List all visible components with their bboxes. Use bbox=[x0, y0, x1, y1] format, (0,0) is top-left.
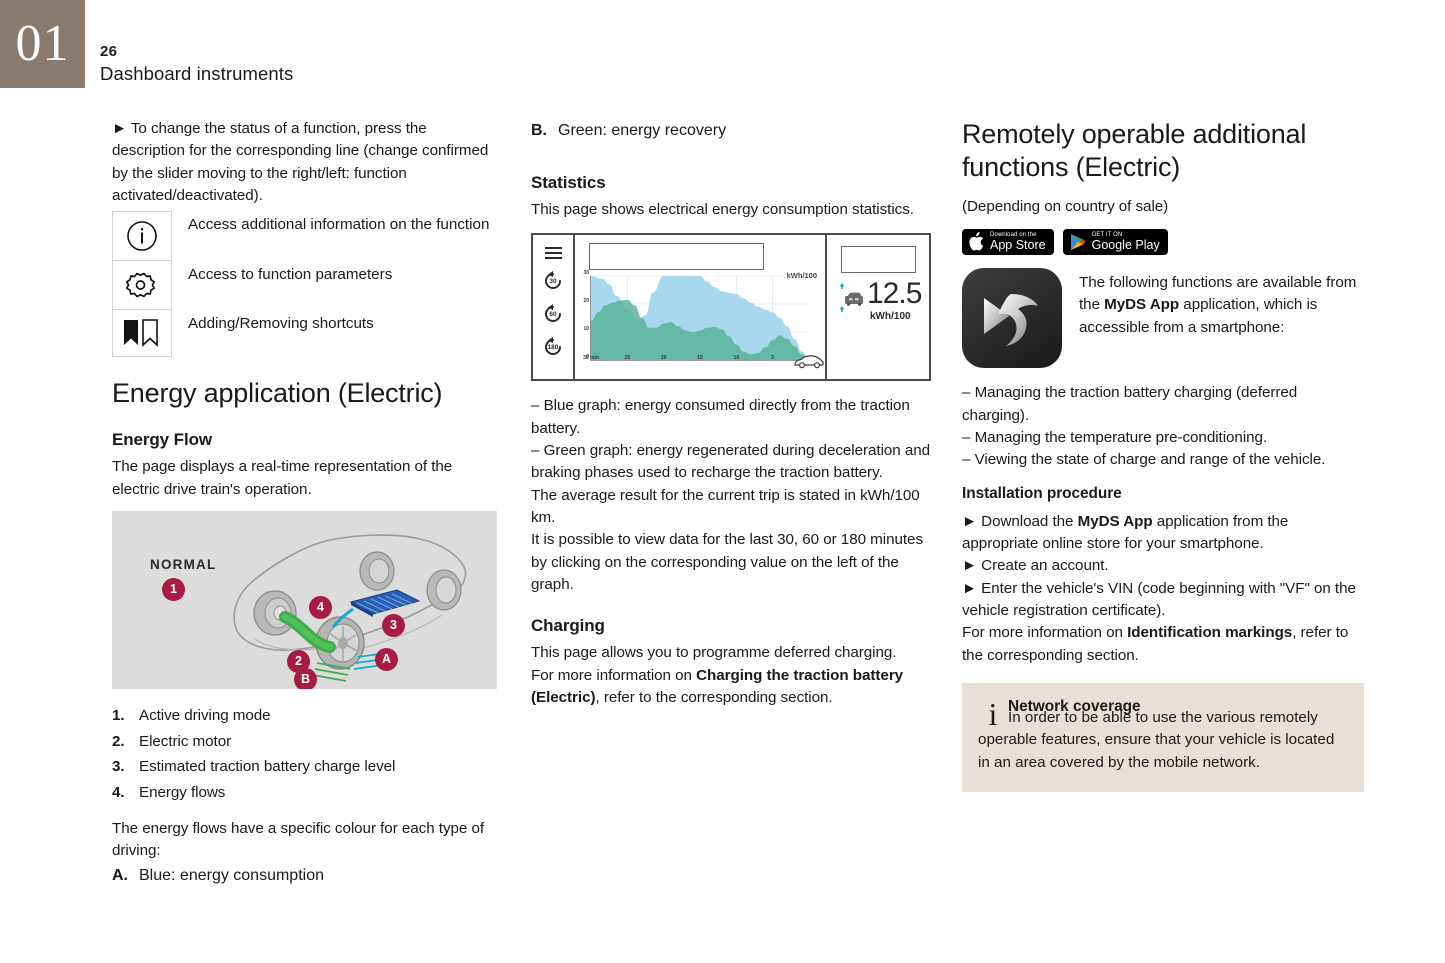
id-note-bold: Identification markings bbox=[1127, 624, 1292, 641]
id-note-pre: For more information on bbox=[962, 624, 1127, 641]
energy-flow-legend-list: 1.Active driving mode 2.Electric motor 3… bbox=[112, 703, 497, 805]
screen-title-placeholder bbox=[589, 243, 764, 270]
icon-legend-row: Access to function parameters bbox=[112, 261, 497, 310]
app-store-badge[interactable]: Download on the App Store bbox=[962, 229, 1054, 255]
energy-flow-body: The page displays a real-time representa… bbox=[112, 456, 497, 501]
icon-legend-label: Access to function parameters bbox=[172, 261, 392, 286]
icon-legend-label: Access additional information on the fun… bbox=[172, 211, 489, 236]
install-step-1: ► Download the MyDS App application from… bbox=[962, 511, 1364, 556]
callout-body-text: In order to be able to use the various r… bbox=[978, 709, 1334, 771]
list-item-number: 1. bbox=[112, 703, 139, 729]
callout-badge-b: B bbox=[294, 668, 317, 689]
myds-app-icon bbox=[962, 268, 1062, 368]
charging-ref-pre: For more information on bbox=[531, 667, 696, 684]
list-item: 3.Estimated traction battery charge leve… bbox=[112, 754, 497, 780]
charging-body: This page allows you to programme deferr… bbox=[531, 642, 931, 664]
gear-icon bbox=[112, 261, 172, 310]
apple-logo-icon bbox=[968, 232, 985, 252]
callout-badge-1: 1 bbox=[162, 578, 185, 601]
myds-intro-bold: MyDS App bbox=[1104, 296, 1179, 313]
list-item-label: Energy flows bbox=[139, 780, 225, 806]
list-item-label: Blue: energy consumption bbox=[139, 863, 324, 890]
icon-legend-row: Adding/Removing shortcuts bbox=[112, 310, 497, 357]
google-play-badge-text: GET IT ON Google Play bbox=[1092, 232, 1160, 252]
section-title-remote-functions: Remotely operable additional functions (… bbox=[962, 118, 1364, 184]
page-header: 26 Dashboard instruments bbox=[100, 43, 293, 86]
info-circle-icon bbox=[112, 211, 172, 261]
subsection-title-statistics: Statistics bbox=[531, 173, 931, 193]
icon-legend-row: Access additional information on the fun… bbox=[112, 211, 497, 261]
column-two: B. Green: energy recovery Statistics Thi… bbox=[531, 118, 931, 709]
install-step-1-pre: ► Download the bbox=[962, 513, 1078, 530]
myds-app-block: The following functions are available fr… bbox=[962, 268, 1364, 368]
list-item-a: A. Blue: energy consumption bbox=[112, 863, 497, 890]
average-consumption-value: 12.5 bbox=[867, 280, 921, 307]
install-step-2: ► Create an account. bbox=[962, 555, 1364, 577]
time-range-note: It is possible to view data for the last… bbox=[531, 529, 931, 596]
list-item-label: Active driving mode bbox=[139, 703, 271, 729]
list-item-number: 3. bbox=[112, 754, 139, 780]
chart-x-tick: 5 bbox=[763, 355, 783, 361]
list-item-number: 2. bbox=[112, 729, 139, 755]
install-step-3: ► Enter the vehicle's VIN (code beginnin… bbox=[962, 578, 1364, 623]
rewind-180-icon[interactable]: 180 bbox=[542, 336, 564, 358]
intro-paragraph: ► To change the status of a function, pr… bbox=[112, 118, 497, 207]
google-play-badge[interactable]: GET IT ON Google Play bbox=[1063, 229, 1168, 255]
charging-reference: For more information on Charging the tra… bbox=[531, 665, 931, 710]
app-store-badge-bottom: App Store bbox=[990, 239, 1046, 252]
green-graph-bullet: – Green graph: energy regenerated during… bbox=[531, 440, 931, 485]
page-title: Dashboard instruments bbox=[100, 62, 293, 86]
chart-x-tick: 15 bbox=[690, 355, 710, 361]
remote-function-item: – Managing the temperature pre-condition… bbox=[962, 427, 1364, 449]
statistics-screen-sidebar: 30 60 180 bbox=[533, 235, 575, 379]
chart-x-tick: 30 min bbox=[581, 355, 601, 361]
manual-page: 01 26 Dashboard instruments ► To change … bbox=[0, 0, 1445, 963]
statistics-screen-mock: 30 60 180 bbox=[531, 233, 931, 381]
rewind-60-icon[interactable]: 60 bbox=[542, 303, 564, 325]
hamburger-menu-icon[interactable] bbox=[545, 247, 562, 259]
list-item-b: B. Green: energy recovery bbox=[531, 118, 931, 145]
statistics-body: This page shows electrical energy consum… bbox=[531, 199, 931, 221]
remote-function-item: – Managing the traction battery charging… bbox=[962, 382, 1364, 427]
average-consumption-unit: kWh/100 bbox=[870, 311, 911, 322]
list-item-label: Electric motor bbox=[139, 729, 231, 755]
page-number: 26 bbox=[100, 43, 293, 62]
chart-x-tick: 20 bbox=[654, 355, 674, 361]
energy-flow-illustration: NORMAL 1 2 3 4 A B bbox=[112, 511, 497, 689]
rewind-60-label: 60 bbox=[542, 311, 564, 318]
blue-graph-bullet: – Blue graph: energy consumed directly f… bbox=[531, 395, 931, 440]
chapter-number: 01 bbox=[16, 18, 70, 70]
app-store-badge-text: Download on the App Store bbox=[990, 232, 1046, 252]
subsection-title-installation: Installation procedure bbox=[962, 485, 1364, 503]
driving-mode-label: NORMAL bbox=[150, 557, 216, 572]
google-play-badge-bottom: Google Play bbox=[1092, 239, 1160, 252]
chart-x-tick-labels: 30 min252015105 bbox=[587, 355, 811, 367]
callout-badge-a: A bbox=[375, 648, 398, 671]
subsection-title-charging: Charging bbox=[531, 616, 931, 636]
google-play-icon bbox=[1069, 232, 1087, 252]
chart-x-tick: 10 bbox=[726, 355, 746, 361]
network-coverage-callout: i Network coverage In order to be able t… bbox=[962, 683, 1364, 792]
identification-markings-note: For more information on Identification m… bbox=[962, 622, 1364, 667]
column-one: ► To change the status of a function, pr… bbox=[112, 118, 497, 890]
chart-y-tick: 20 bbox=[583, 298, 589, 304]
section-title-energy-application: Energy application (Electric) bbox=[112, 377, 497, 410]
callout-badge-4: 4 bbox=[309, 596, 332, 619]
list-item: 1.Active driving mode bbox=[112, 703, 497, 729]
subsection-title-energy-flow: Energy Flow bbox=[112, 430, 497, 450]
icon-legend-label: Adding/Removing shortcuts bbox=[172, 310, 374, 335]
column-three: Remotely operable additional functions (… bbox=[962, 118, 1364, 792]
list-item-label: Estimated traction battery charge level bbox=[139, 754, 395, 780]
chapter-tab: 01 bbox=[0, 0, 85, 88]
colour-intro-paragraph: The energy flows have a specific colour … bbox=[112, 818, 497, 863]
country-of-sale-note: (Depending on country of sale) bbox=[962, 196, 1364, 218]
rewind-180-label: 180 bbox=[542, 344, 564, 351]
list-item: 4.Energy flows bbox=[112, 780, 497, 806]
icon-legend-table: Access additional information on the fun… bbox=[112, 211, 497, 357]
list-item-number: 4. bbox=[112, 780, 139, 806]
car-side-icon bbox=[793, 353, 825, 369]
chart-x-tick: 25 bbox=[617, 355, 637, 361]
app-store-badges: Download on the App Store GET IT ON Goog… bbox=[962, 229, 1364, 255]
chart-y-tick: 30 bbox=[583, 270, 589, 276]
list-item: 2.Electric motor bbox=[112, 729, 497, 755]
rewind-30-label: 30 bbox=[542, 278, 564, 285]
charging-ref-post: , refer to the corresponding section. bbox=[596, 689, 833, 706]
statistics-average-panel: 12.5 kWh/100 bbox=[825, 235, 929, 379]
list-item-letter: B. bbox=[531, 118, 558, 145]
rewind-30-icon[interactable]: 30 bbox=[542, 270, 564, 292]
average-panel-placeholder bbox=[841, 246, 916, 273]
average-result-note: The average result for the current trip … bbox=[531, 485, 931, 530]
callout-body: In order to be able to use the various r… bbox=[978, 707, 1348, 774]
install-step-1-bold: MyDS App bbox=[1078, 513, 1153, 530]
list-item-label: Green: energy recovery bbox=[558, 118, 726, 145]
callout-badge-3: 3 bbox=[382, 614, 405, 637]
remote-function-item: – Viewing the state of charge and range … bbox=[962, 449, 1364, 471]
list-item-letter: A. bbox=[112, 863, 139, 890]
statistics-chart-area: kWh/100 0102030 30 min252015105 bbox=[575, 235, 825, 379]
myds-app-intro: The following functions are available fr… bbox=[1079, 268, 1364, 368]
bookmark-icon bbox=[112, 310, 172, 357]
chart-y-tick: 10 bbox=[583, 326, 589, 332]
car-battery-icon bbox=[839, 283, 865, 313]
